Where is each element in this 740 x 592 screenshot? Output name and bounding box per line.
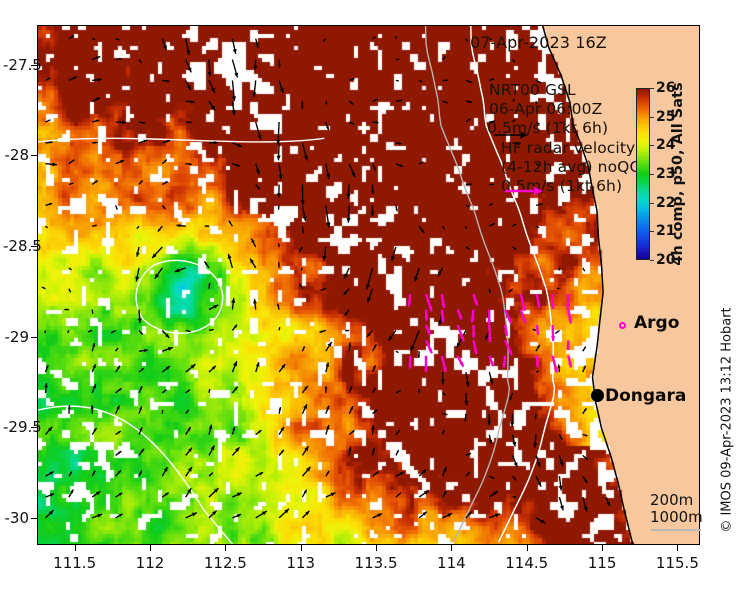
velocity-vector-head [233, 361, 237, 366]
velocity-vector-head [495, 514, 500, 518]
hf-line-1: HF radar velocity [501, 139, 635, 157]
velocity-vector-head [326, 126, 329, 130]
colorbar-tick-mark [650, 260, 654, 261]
hf-line-2: (4-12h avg) noQC [501, 158, 640, 176]
copyright-credit: © IMOS 09-Apr-2023 13:12 Hobart [720, 307, 735, 532]
velocity-vector-head [253, 66, 257, 71]
timestamp-label: 07-Apr-2023 16Z [470, 33, 607, 52]
velocity-vector-head [325, 386, 328, 389]
velocity-vector-head [560, 506, 564, 511]
y-tick-mark [31, 155, 37, 156]
depth-1000m-label: 1000m [650, 509, 703, 526]
x-tick-mark [451, 545, 452, 551]
y-tick-label: -29.5 [3, 418, 29, 436]
velocity-vector-head [278, 64, 281, 67]
velocity-vector-head [163, 45, 167, 50]
x-tick-label: 111.5 [53, 554, 96, 572]
velocity-vector-head [208, 72, 212, 77]
argo-legend-label: Argo [634, 313, 679, 333]
velocity-vector-head [93, 384, 96, 388]
velocity-vector-head [97, 514, 102, 518]
velocity-vector-head [469, 81, 472, 83]
velocity-vector-head [301, 106, 304, 109]
x-tick-label: 115.5 [656, 554, 699, 572]
velocity-vector-head [347, 218, 351, 223]
velocity-vector-head [46, 365, 49, 368]
velocity-vector-head [490, 361, 494, 366]
velocity-vector-head [277, 156, 281, 161]
velocity-vector-head [566, 304, 570, 309]
velocity-vector-head [367, 298, 371, 303]
colorbar-tick-mark [650, 117, 654, 118]
colorbar-tick-mark [650, 145, 654, 146]
velocity-vector-head [175, 268, 180, 272]
velocity-vector-head [168, 347, 173, 351]
velocity-vector-head [256, 362, 260, 367]
colorbar-gradient [636, 88, 650, 260]
y-tick-label: -27.5 [3, 56, 29, 74]
x-tick-mark [75, 545, 76, 551]
gsl-line-1: NRT00 GSL [489, 81, 576, 99]
x-tick-mark [527, 545, 528, 551]
velocity-vector-head [96, 56, 100, 59]
velocity-vector-head [256, 169, 260, 174]
velocity-vector-head [166, 140, 170, 143]
depth-200m-label: 200m [650, 492, 703, 509]
velocity-vector-head [91, 405, 94, 409]
depth-1000m-contour-swatch [651, 529, 701, 531]
velocity-vector-head [120, 160, 124, 163]
velocity-vector-head [277, 193, 281, 198]
x-tick-label: 114.5 [505, 554, 548, 572]
velocity-vector-head [371, 425, 374, 429]
velocity-vector-head [446, 79, 448, 81]
x-tick-mark [602, 545, 603, 551]
x-tick-label: 113 [286, 554, 315, 572]
depth-contour-legend: 200m 1000m [650, 492, 703, 526]
velocity-vector-head [464, 401, 468, 406]
x-tick-mark [225, 545, 226, 551]
velocity-vector-head [236, 164, 240, 167]
hf-reference-arrow [504, 184, 544, 198]
velocity-vector-head [232, 427, 235, 431]
velocity-vector-head [391, 256, 395, 261]
y-tick-label: -30 [3, 509, 29, 527]
velocity-vector-head [472, 333, 476, 338]
velocity-vector-head [551, 336, 555, 341]
colorbar-tick-mark [650, 203, 654, 204]
velocity-vector-head [424, 316, 428, 321]
velocity-vector-head [414, 276, 418, 281]
figure-root: 111.5112112.5113113.5114114.5115115.5 -2… [0, 0, 740, 592]
velocity-vector-head [143, 140, 147, 143]
velocity-vector-head [371, 212, 375, 217]
velocity-vector-head [485, 335, 488, 340]
velocity-vector-head [470, 183, 473, 185]
velocity-vector-head [510, 397, 513, 401]
y-tick-label: -28.5 [3, 237, 29, 255]
velocity-vector-head [487, 320, 491, 325]
y-tick-label: -28 [3, 146, 29, 164]
velocity-vector-head [371, 190, 375, 194]
y-tick-mark [31, 518, 37, 519]
y-tick-mark [31, 337, 37, 338]
gsl-line-2: 06-Apr 06:00Z [489, 100, 602, 118]
velocity-vector-head [189, 121, 191, 123]
velocity-vector-head [487, 421, 491, 426]
velocity-vector-head [418, 355, 421, 358]
velocity-vector-head [301, 201, 305, 206]
velocity-vector-head [49, 203, 52, 206]
x-tick-mark [301, 545, 302, 551]
velocity-vector-head [551, 304, 555, 309]
x-tick-label: 114 [437, 554, 466, 572]
x-tick-label: 113.5 [355, 554, 398, 572]
bathymetry-contour-southwest [38, 406, 234, 545]
bathymetry-contour-north [38, 138, 324, 142]
x-tick-label: 115 [588, 554, 617, 572]
velocity-vector-head [139, 406, 142, 410]
dongara-city-label: Dongara [605, 386, 686, 406]
argo-marker-icon [619, 322, 626, 329]
dongara-city-marker-icon [591, 389, 604, 402]
x-tick-label: 112.5 [204, 554, 247, 572]
y-tick-label: -29 [3, 328, 29, 346]
colorbar-tick-mark [650, 231, 654, 232]
velocity-vector-head [537, 462, 541, 467]
velocity-vector-head [558, 365, 561, 368]
x-tick-label: 112 [136, 554, 165, 572]
velocity-vector-head [138, 318, 142, 323]
velocity-vector-head [122, 120, 126, 124]
velocity-vector-head [326, 425, 330, 430]
x-tick-mark [677, 545, 678, 551]
x-tick-mark [150, 545, 151, 551]
velocity-vector-head [280, 88, 284, 93]
velocity-vector-head [441, 380, 445, 385]
velocity-vector-head [510, 422, 514, 427]
velocity-vector-head [424, 368, 428, 373]
velocity-vector-head [560, 461, 564, 466]
colorbar-title: 4h comp, p50, All Sats [670, 82, 686, 265]
velocity-vector-head [408, 364, 412, 369]
x-tick-mark [376, 545, 377, 551]
colorbar-tick-mark [650, 174, 654, 175]
velocity-vector-head [488, 337, 492, 342]
colorbar-tick-mark [650, 88, 654, 89]
